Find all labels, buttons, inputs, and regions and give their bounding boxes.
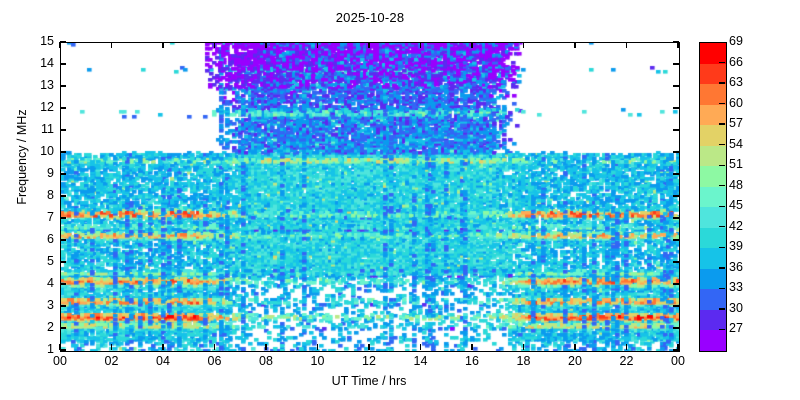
y-axis-tick — [673, 129, 679, 130]
y-axis-tick-label: 5 — [22, 254, 54, 268]
x-axis-tick — [471, 344, 472, 350]
colorbar-band — [700, 84, 726, 105]
x-axis-tick — [420, 42, 421, 48]
colorbar-tick-label: 39 — [729, 239, 743, 253]
x-axis-tick-label: 10 — [303, 354, 333, 368]
colorbar-band — [700, 105, 726, 126]
colorbar-band — [700, 330, 726, 351]
colorbar-band — [700, 64, 726, 85]
colorbar-band — [700, 269, 726, 290]
colorbar-band — [700, 248, 726, 269]
plot-area — [60, 42, 680, 352]
y-axis-tick — [60, 85, 66, 86]
colorbar-tick — [719, 288, 725, 289]
y-axis-tick — [60, 349, 66, 350]
colorbar-band — [700, 228, 726, 249]
x-axis-tick — [574, 42, 575, 48]
x-axis-tick — [574, 344, 575, 350]
colorbar-band — [700, 187, 726, 208]
colorbar-band — [700, 146, 726, 167]
colorbar-band — [700, 207, 726, 228]
colorbar-tick — [719, 185, 725, 186]
y-axis-tick — [60, 305, 66, 306]
x-axis-tick — [368, 42, 369, 48]
colorbar-tick-label: 51 — [729, 157, 743, 171]
x-axis-tick — [111, 42, 112, 48]
colorbar-tick-label: 63 — [729, 75, 743, 89]
colorbar-tick-label: 54 — [729, 137, 743, 151]
x-axis-tick-label: 02 — [97, 354, 127, 368]
y-axis-tick — [673, 349, 679, 350]
y-axis-tick — [673, 41, 679, 42]
x-axis-tick — [677, 42, 678, 48]
colorbar-tick — [719, 308, 725, 309]
x-axis-tick-label: 12 — [354, 354, 384, 368]
x-axis-tick — [111, 344, 112, 350]
x-axis-tick-label: 06 — [200, 354, 230, 368]
colorbar-tick — [719, 103, 725, 104]
y-axis-tick — [60, 239, 66, 240]
y-axis-tick-label: 3 — [22, 298, 54, 312]
x-axis-tick — [162, 344, 163, 350]
y-axis-tick — [673, 195, 679, 196]
colorbar-tick-label: 33 — [729, 280, 743, 294]
colorbar-tick-label: 27 — [729, 321, 743, 335]
x-axis-tick — [626, 42, 627, 48]
y-axis-tick — [673, 283, 679, 284]
colorbar-tick — [719, 123, 725, 124]
ionogram-figure: 2025-10-28 00020406081012141618202200123… — [0, 0, 800, 400]
y-axis-tick — [673, 85, 679, 86]
colorbar-tick-label: 30 — [729, 301, 743, 315]
x-axis-tick — [420, 344, 421, 350]
y-axis-label: Frequency / MHz — [15, 77, 29, 237]
x-axis-tick-label: 16 — [457, 354, 487, 368]
y-axis-tick-label: 1 — [22, 342, 54, 356]
x-axis-tick — [523, 42, 524, 48]
x-axis-tick — [59, 42, 60, 48]
colorbar-band — [700, 43, 726, 64]
page-title: 2025-10-28 — [0, 10, 740, 25]
colorbar-tick — [719, 62, 725, 63]
y-axis-tick — [60, 41, 66, 42]
colorbar-tick — [719, 267, 725, 268]
colorbar-tick — [719, 82, 725, 83]
x-axis-tick — [626, 344, 627, 350]
x-axis-tick — [368, 344, 369, 350]
colorbar — [699, 42, 727, 352]
x-axis-tick — [265, 344, 266, 350]
colorbar-band — [700, 310, 726, 331]
y-axis-tick — [60, 107, 66, 108]
x-axis-tick — [214, 42, 215, 48]
y-axis-tick — [60, 129, 66, 130]
y-axis-tick — [60, 63, 66, 64]
y-axis-tick — [673, 305, 679, 306]
x-axis-tick — [162, 42, 163, 48]
colorbar-tick — [719, 206, 725, 207]
y-axis-tick — [673, 217, 679, 218]
x-axis-tick — [523, 344, 524, 350]
y-axis-tick-label: 15 — [22, 34, 54, 48]
x-axis-tick — [265, 42, 266, 48]
x-axis-tick-label: 00 — [45, 354, 75, 368]
colorbar-tick-label: 60 — [729, 96, 743, 110]
y-axis-tick-label: 4 — [22, 276, 54, 290]
colorbar-tick-label: 48 — [729, 178, 743, 192]
colorbar-tick — [719, 247, 725, 248]
colorbar-tick-label: 36 — [729, 260, 743, 274]
y-axis-tick — [673, 173, 679, 174]
colorbar-band — [700, 289, 726, 310]
colorbar-tick-label: 42 — [729, 219, 743, 233]
y-axis-tick — [60, 173, 66, 174]
y-axis-tick — [673, 261, 679, 262]
colorbar-band — [700, 166, 726, 187]
x-axis-tick-label: 14 — [406, 354, 436, 368]
x-axis-tick-label: 22 — [612, 354, 642, 368]
colorbar-tick-label: 69 — [729, 34, 743, 48]
y-axis-tick-label: 2 — [22, 320, 54, 334]
colorbar-tick — [719, 329, 725, 330]
x-axis-tick — [471, 42, 472, 48]
y-axis-tick-label: 14 — [22, 56, 54, 70]
y-axis-tick — [673, 63, 679, 64]
y-axis-tick — [60, 195, 66, 196]
y-axis-tick — [60, 217, 66, 218]
x-axis-tick-label: 04 — [148, 354, 178, 368]
x-axis-tick-label: 00 — [663, 354, 693, 368]
y-axis-tick — [60, 327, 66, 328]
x-axis-tick — [317, 344, 318, 350]
y-axis-tick — [673, 239, 679, 240]
spectrogram-canvas — [61, 43, 679, 351]
colorbar-band — [700, 125, 726, 146]
x-axis-tick — [214, 344, 215, 350]
colorbar-tick-label: 45 — [729, 198, 743, 212]
colorbar-tick — [719, 165, 725, 166]
x-axis-tick-label: 20 — [560, 354, 590, 368]
y-axis-tick — [60, 151, 66, 152]
x-axis-tick-label: 08 — [251, 354, 281, 368]
colorbar-tick-label: 57 — [729, 116, 743, 130]
y-axis-tick — [60, 261, 66, 262]
y-axis-tick — [673, 327, 679, 328]
x-axis-label: UT Time / hrs — [60, 374, 678, 388]
y-axis-tick — [673, 107, 679, 108]
colorbar-tick — [719, 226, 725, 227]
x-axis-tick — [317, 42, 318, 48]
x-axis-tick-label: 18 — [509, 354, 539, 368]
y-axis-tick — [60, 283, 66, 284]
colorbar-tick — [719, 144, 725, 145]
y-axis-tick — [673, 151, 679, 152]
colorbar-tick-label: 66 — [729, 55, 743, 69]
